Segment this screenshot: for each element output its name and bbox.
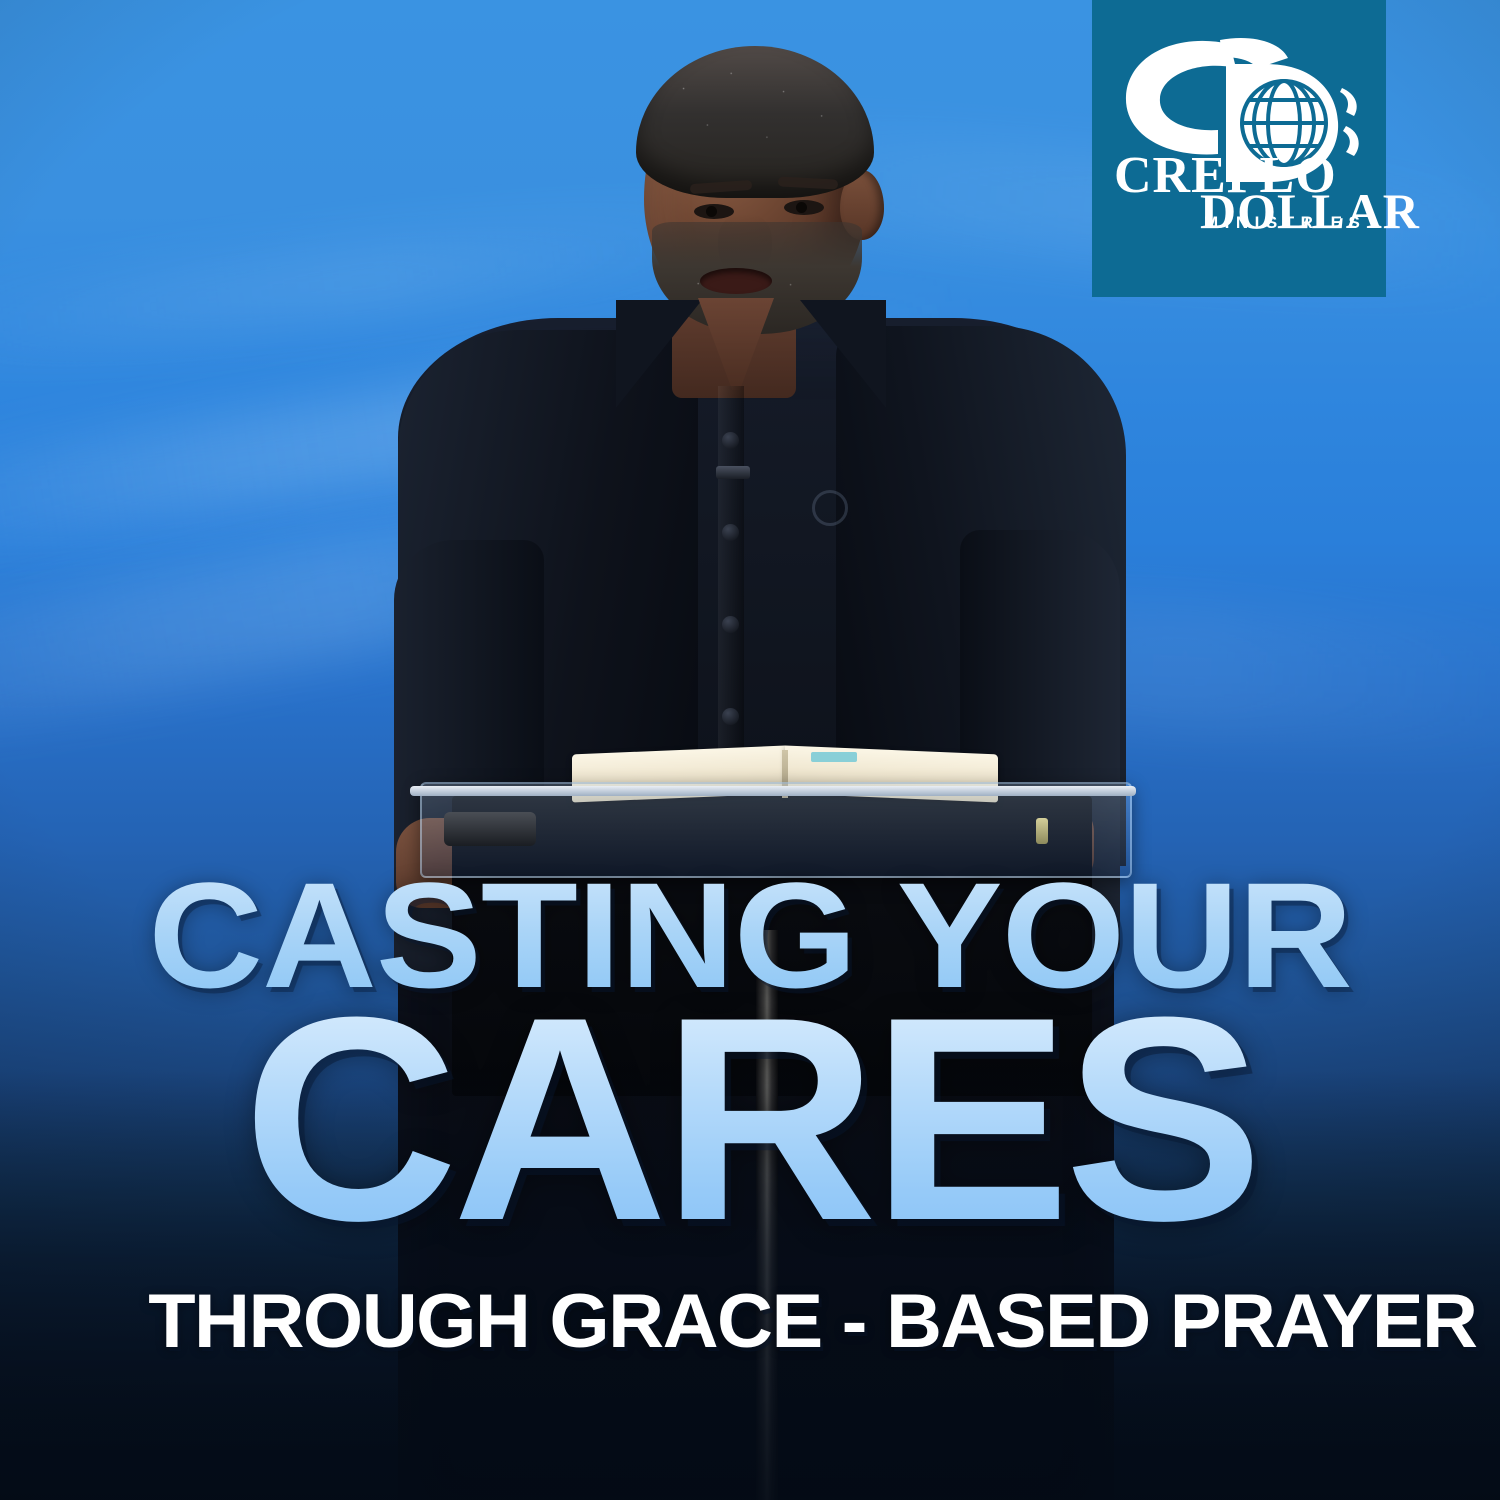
- title-line-2: CARES: [132, 992, 1368, 1247]
- subtitle-line: THROUGH GRACE - BASED PRAYER: [148, 1284, 1352, 1360]
- title-block: CASTING YOUR CARES THROUGH GRACE - BASED…: [0, 0, 1500, 1500]
- sermon-title-card: CREFLO DOLLAR MINISTRIES CASTING YOUR CA…: [0, 0, 1500, 1500]
